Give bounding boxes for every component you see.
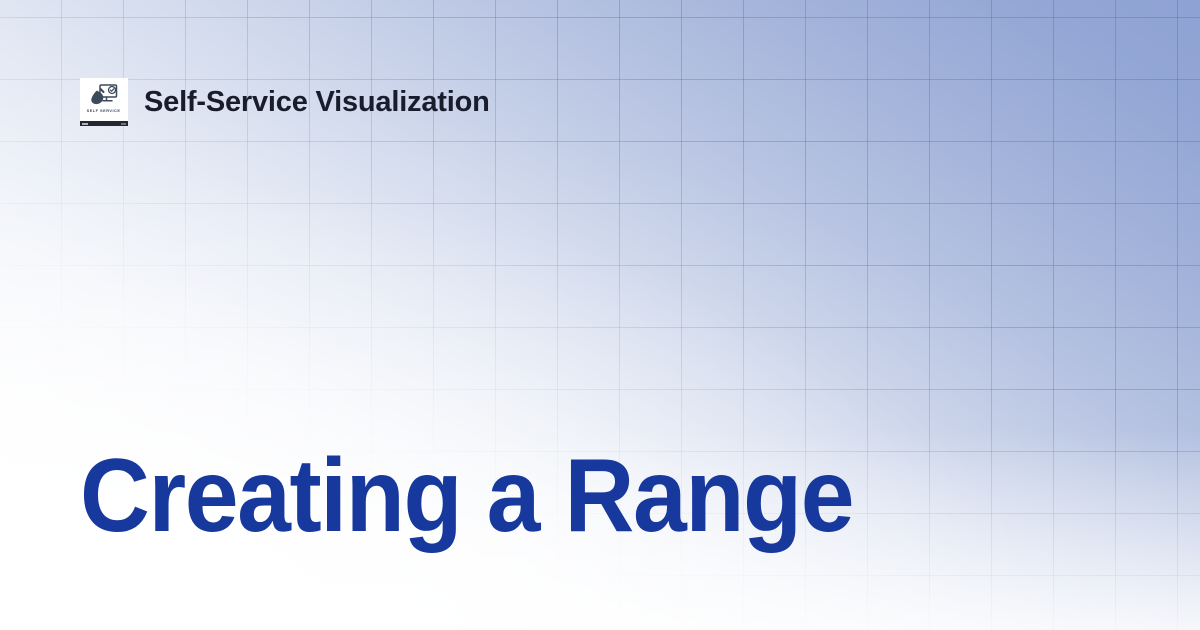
brand-logo-caption: SELF SERVICE bbox=[87, 109, 121, 113]
self-service-monitor-icon bbox=[90, 83, 118, 107]
brand-logo-badge: SELF SERVICE bbox=[80, 78, 128, 126]
brand-name: Self-Service Visualization bbox=[144, 88, 490, 117]
og-banner-card: SELF SERVICE Self-Service Visualization … bbox=[0, 0, 1200, 630]
page-title: Creating a Range bbox=[80, 444, 853, 548]
brand-logo-footbar bbox=[80, 121, 128, 126]
brand-row: SELF SERVICE Self-Service Visualization bbox=[80, 78, 490, 126]
